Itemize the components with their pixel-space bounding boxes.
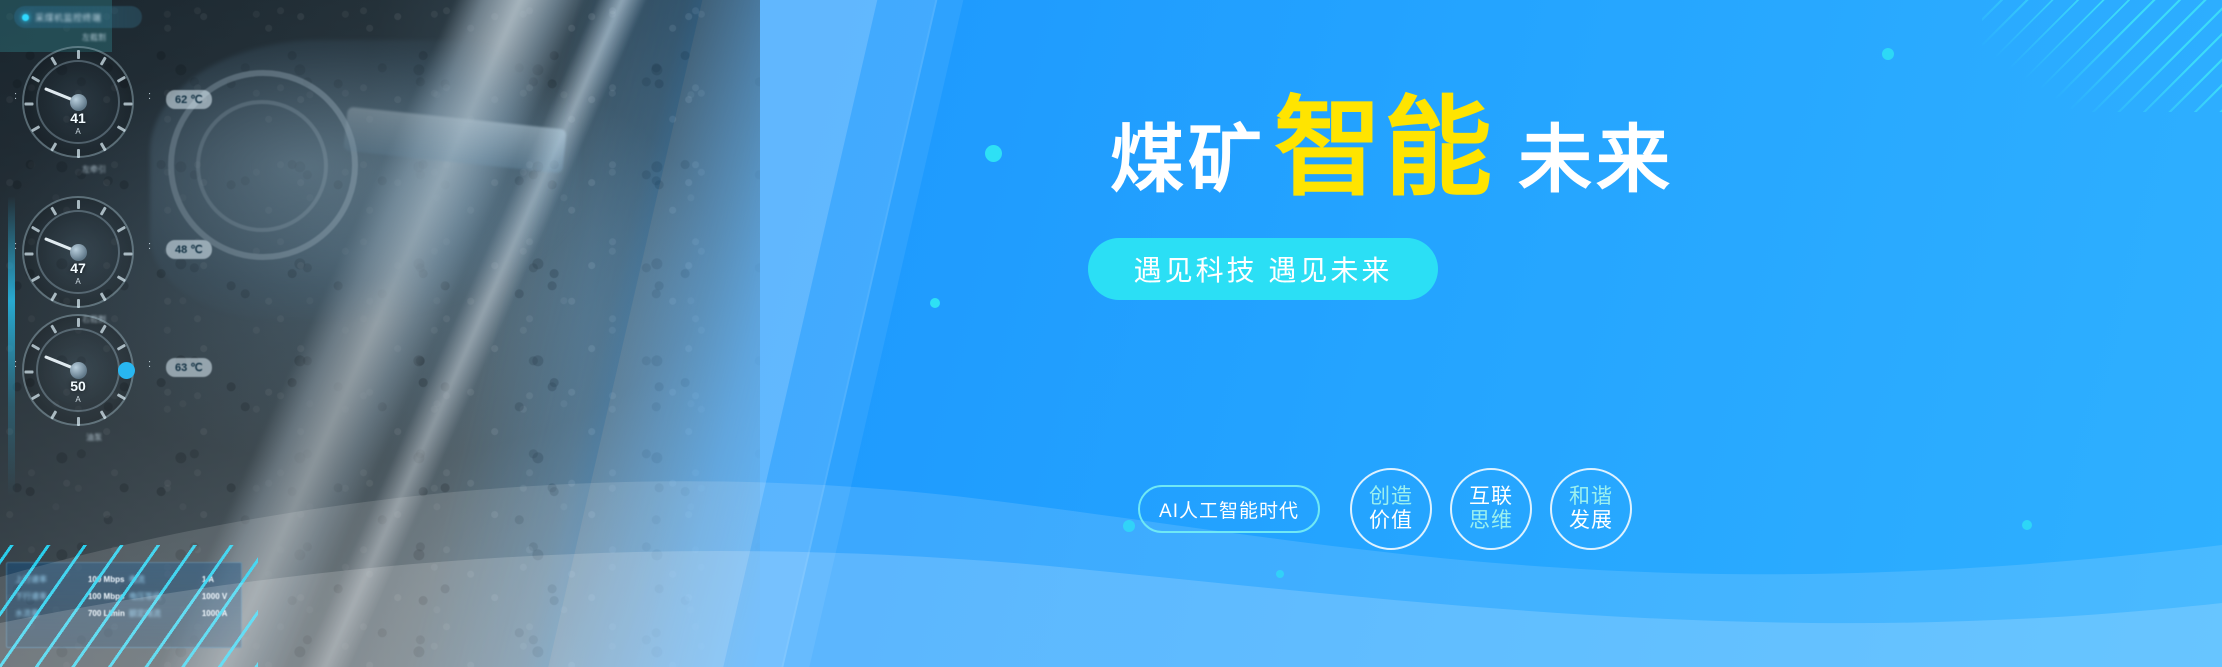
headline-part-3: 未来 [1518, 123, 1674, 197]
gauge-dial: 41 A [22, 46, 134, 158]
badge-group: AI人工智能时代 创造 价值 互联 思维 和谐 发展 [1138, 468, 1650, 550]
badge-circle-top: 创造 [1369, 485, 1413, 509]
gauge-value: 41 [24, 110, 132, 126]
headline-part-1: 煤矿 [1110, 123, 1266, 197]
hmi-header: 采煤机监控终端 [14, 6, 142, 28]
slogan-pill[interactable]: 遇见科技 遇见未来 [1088, 238, 1438, 300]
promo-banner: 采煤机监控终端 左截割 41 A : : 62 ℃ 左牵引 47 A [0, 0, 2222, 667]
badge-circle-bottom: 价值 [1369, 509, 1413, 533]
gauge-colon-left: : [14, 90, 17, 102]
badge-circle-top: 和谐 [1569, 485, 1613, 509]
temperature-badge: 62 ℃ [166, 90, 212, 109]
gauge-value: 47 [24, 260, 132, 276]
headline: 煤矿 智能 未来 [1110, 98, 1630, 197]
badge-circle-connected-thinking[interactable]: 互联 思维 [1450, 468, 1532, 550]
gauge-hub-icon [70, 244, 87, 261]
status-dot-icon [22, 14, 29, 21]
gauge-hub-icon [70, 94, 87, 111]
gauge-colon-right: : [148, 240, 151, 252]
badge-circle-bottom: 思维 [1469, 509, 1513, 533]
banner-content: 煤矿 智能 未来 遇见科技 遇见未来 AI人工智能时代 创造 价值 互联 思维 … [1060, 0, 2222, 667]
temperature-badge: 48 ℃ [166, 240, 212, 259]
badge-circle-top: 互联 [1469, 485, 1513, 509]
hmi-indicator-dot-icon [118, 362, 135, 379]
gauge-colon-left: : [14, 240, 17, 252]
temperature-badge: 63 ℃ [166, 358, 212, 377]
gauge-label-top: 左截割 [38, 32, 150, 43]
slogan-pill-label: 遇见科技 遇见未来 [1134, 249, 1393, 289]
hmi-header-label: 采煤机监控终端 [35, 11, 102, 24]
gauge-colon-right: : [148, 358, 151, 370]
badge-ai-era-label: AI人工智能时代 [1159, 496, 1299, 523]
gauge-dial: 47 A [22, 196, 134, 308]
decor-dot-icon [985, 145, 1002, 162]
badge-ai-era[interactable]: AI人工智能时代 [1138, 485, 1320, 533]
gauge-colon-right: : [148, 90, 151, 102]
gauge-unit: A [24, 127, 132, 136]
badge-circle-bottom: 发展 [1569, 509, 1613, 533]
badge-circle-create-value[interactable]: 创造 价值 [1350, 468, 1432, 550]
gauge-value: 50 [24, 378, 132, 394]
gauge-hub-icon [70, 362, 87, 379]
gauge-unit: A [24, 277, 132, 286]
gauge-row: 左截割 41 A : : 62 ℃ 左牵引 [8, 42, 248, 192]
decor-dot-icon [930, 298, 940, 308]
gauge-colon-left: : [14, 358, 17, 370]
gauge-label-bottom: 左牵引 [38, 164, 150, 175]
headline-part-2-highlight: 智能 [1274, 98, 1494, 197]
gauge-unit: A [24, 395, 132, 404]
badge-circle-harmonious-development[interactable]: 和谐 发展 [1550, 468, 1632, 550]
